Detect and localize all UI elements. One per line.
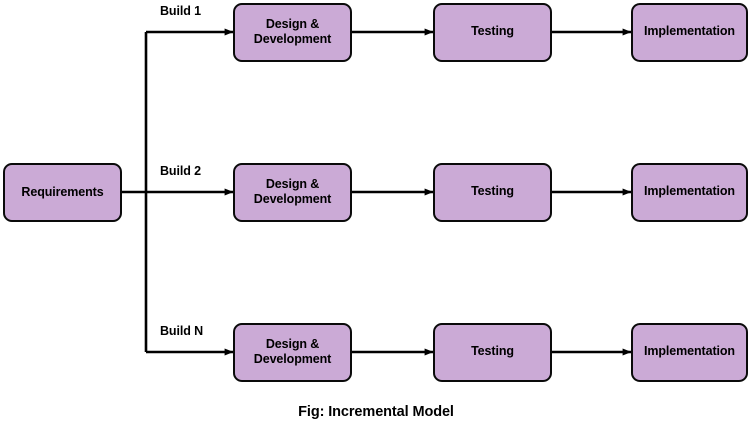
edge-label-build: Build 1 [160,4,201,18]
node-testing-label: Testing [471,344,514,359]
node-testing[interactable]: Testing [433,163,552,222]
node-implementation[interactable]: Implementation [631,163,748,222]
node-testing[interactable]: Testing [433,323,552,382]
node-requirements[interactable]: Requirements [3,163,122,222]
node-design-development-label: Design & Development [254,17,331,48]
node-testing[interactable]: Testing [433,3,552,62]
node-design-development[interactable]: Design & Development [233,3,352,62]
node-implementation-label: Implementation [644,184,735,199]
node-implementation[interactable]: Implementation [631,323,748,382]
node-design-development-label: Design & Development [254,177,331,208]
edge-label-build: Build N [160,324,203,338]
node-testing-label: Testing [471,24,514,39]
node-design-development[interactable]: Design & Development [233,323,352,382]
node-design-development-label: Design & Development [254,337,331,368]
node-implementation-label: Implementation [644,24,735,39]
node-testing-label: Testing [471,184,514,199]
edge-label-build: Build 2 [160,164,201,178]
figure-caption: Fig: Incremental Model [0,404,752,420]
node-implementation[interactable]: Implementation [631,3,748,62]
diagram-canvas: Requirements Build 1Design & Development… [0,0,752,432]
node-implementation-label: Implementation [644,344,735,359]
node-requirements-label: Requirements [21,185,103,200]
node-design-development[interactable]: Design & Development [233,163,352,222]
